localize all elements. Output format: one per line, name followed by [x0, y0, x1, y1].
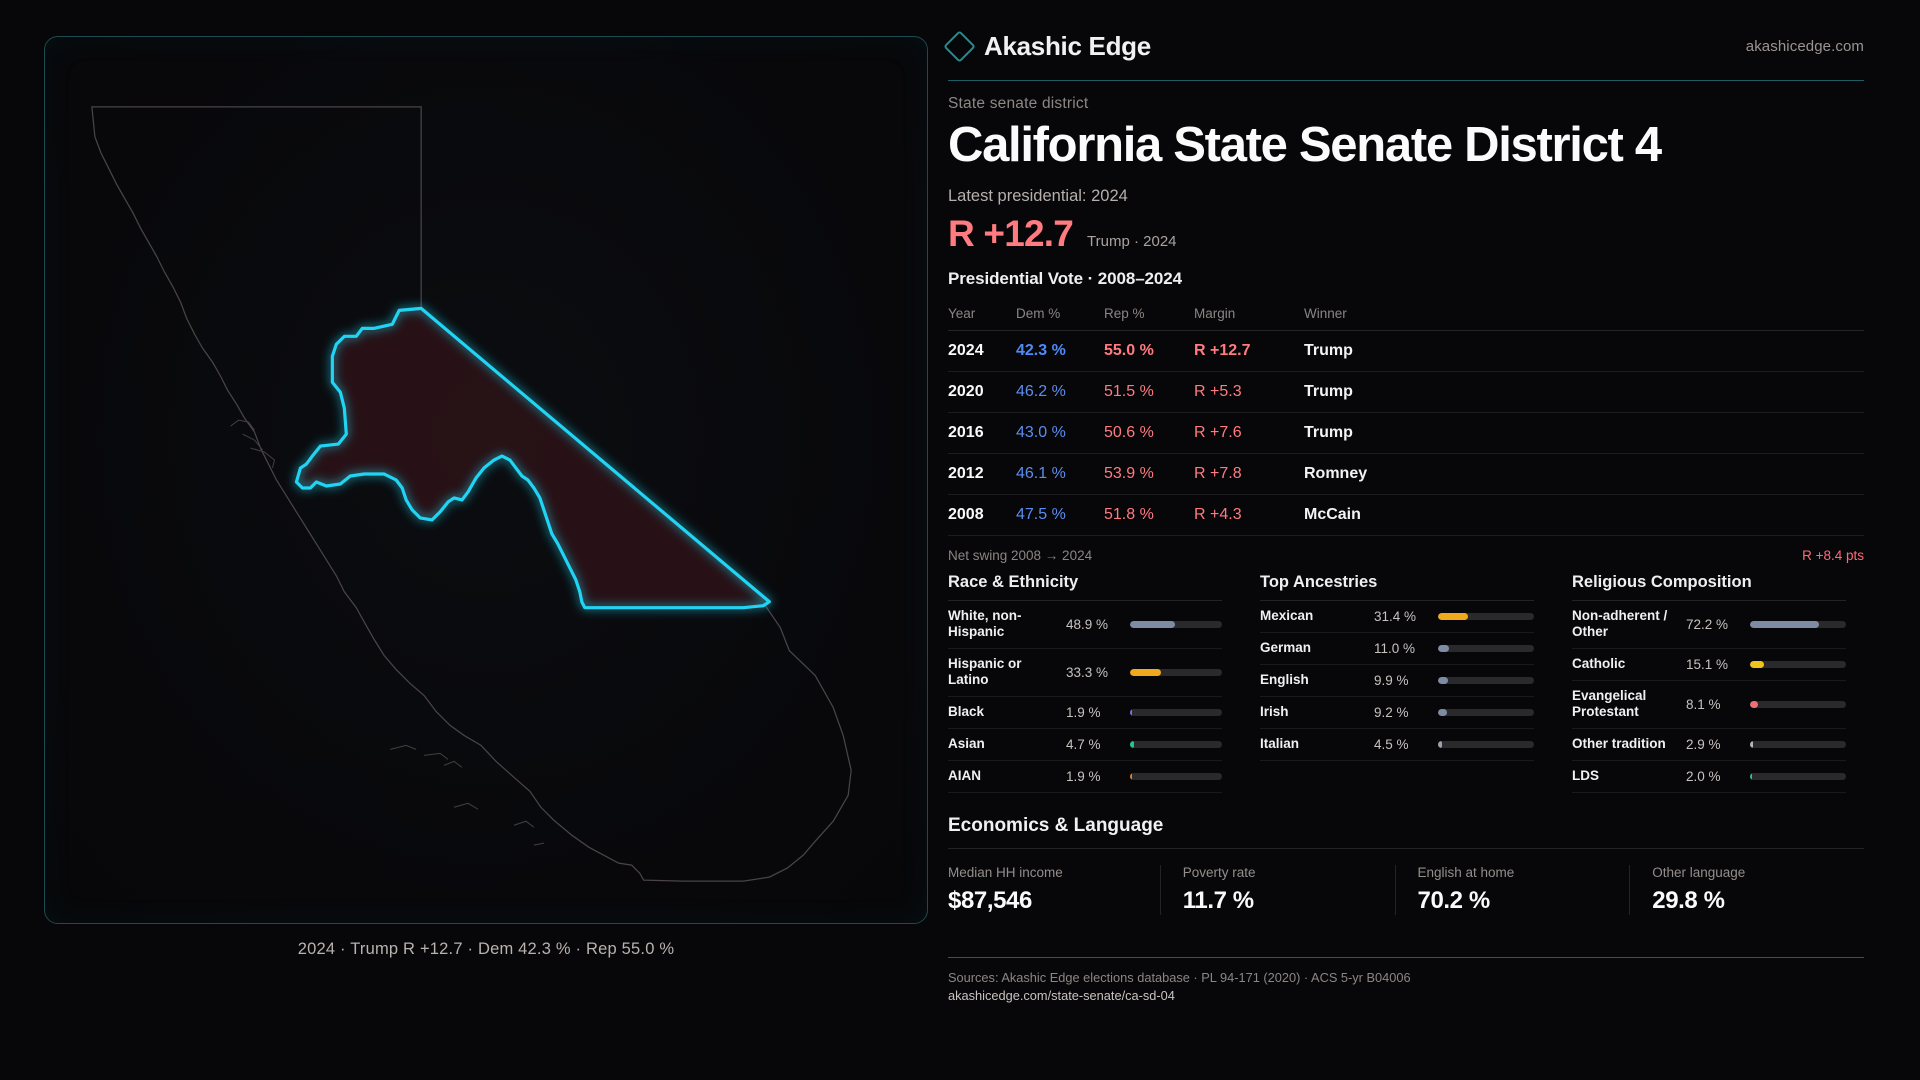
demo-row-value: 48.9 %	[1066, 617, 1122, 632]
cell-year: 2016	[948, 412, 1016, 453]
demo-row: White, non-Hispanic48.9 %	[948, 601, 1222, 649]
demo-bar-track	[1438, 741, 1534, 748]
brand-name: Akashic Edge	[984, 31, 1151, 62]
demo-row-value: 15.1 %	[1686, 657, 1742, 672]
footer-divider	[948, 957, 1864, 958]
demo-row: Catholic15.1 %	[1572, 649, 1846, 681]
demo-row-label: Other tradition	[1572, 736, 1678, 752]
vote-table-title: Presidential Vote · 2008–2024	[948, 269, 1864, 289]
map-svg	[45, 37, 927, 923]
demo-column-title: Race & Ethnicity	[948, 573, 1222, 600]
demo-bar-track	[1750, 701, 1846, 708]
demo-bar-track	[1750, 773, 1846, 780]
demo-bar-fill	[1130, 741, 1134, 748]
state-outline-path	[92, 107, 851, 881]
cell-winner: Trump	[1304, 371, 1864, 412]
demo-bar-fill	[1130, 621, 1175, 628]
demo-row-value: 4.7 %	[1066, 737, 1122, 752]
demo-column: Race & EthnicityWhite, non-Hispanic48.9 …	[948, 573, 1240, 793]
demo-row-value: 8.1 %	[1686, 697, 1742, 712]
economics-divider	[948, 848, 1864, 849]
demo-row: LDS2.0 %	[1572, 761, 1846, 793]
cell-margin: R +7.8	[1194, 453, 1304, 494]
cell-margin: R +12.7	[1194, 330, 1304, 371]
demo-column: Top AncestriesMexican31.4 %German11.0 %E…	[1240, 573, 1552, 793]
demo-row: German11.0 %	[1260, 633, 1534, 665]
state-detail-strokes	[231, 420, 544, 845]
district-map[interactable]	[44, 36, 928, 924]
economics-cell: Other language29.8 %	[1629, 865, 1864, 915]
demo-row-label: English	[1260, 672, 1366, 688]
cell-dem: 46.2 %	[1016, 371, 1104, 412]
demo-row-value: 31.4 %	[1374, 609, 1430, 624]
economics-cell-label: Poverty rate	[1183, 865, 1373, 880]
demo-row-value: 1.9 %	[1066, 769, 1122, 784]
header-divider	[948, 80, 1864, 81]
demo-row-label: Asian	[948, 736, 1058, 752]
demo-bar-fill	[1750, 621, 1819, 628]
demo-bar-track	[1130, 741, 1222, 748]
cell-margin: R +4.3	[1194, 494, 1304, 535]
demo-row-value: 33.3 %	[1066, 665, 1122, 680]
hero-margin-value: R +12.7	[948, 213, 1073, 255]
demo-row: Hispanic or Latino33.3 %	[948, 649, 1222, 697]
brand-bar: Akashic Edge akashicedge.com	[948, 26, 1864, 66]
cell-dem: 43.0 %	[1016, 412, 1104, 453]
demo-row-value: 11.0 %	[1374, 641, 1430, 656]
demo-row-value: 4.5 %	[1374, 737, 1430, 752]
demo-bar-track	[1130, 621, 1222, 628]
demo-bar-track	[1130, 773, 1222, 780]
cell-rep: 53.9 %	[1104, 453, 1194, 494]
cell-rep: 50.6 %	[1104, 412, 1194, 453]
demo-row-value: 1.9 %	[1066, 705, 1122, 720]
cell-winner: Romney	[1304, 453, 1864, 494]
demo-bar-fill	[1750, 741, 1753, 748]
demo-column: Religious CompositionNon-adherent / Othe…	[1552, 573, 1864, 793]
demo-row-value: 2.9 %	[1686, 737, 1742, 752]
demo-row-value: 2.0 %	[1686, 769, 1742, 784]
economics-grid: Median HH income$87,546Poverty rate11.7 …	[948, 865, 1864, 915]
demo-row-label: Evangelical Protestant	[1572, 688, 1678, 721]
demographics-grid: Race & EthnicityWhite, non-Hispanic48.9 …	[948, 573, 1864, 793]
demo-row: Black1.9 %	[948, 697, 1222, 729]
demo-bar-track	[1750, 621, 1846, 628]
demo-row: Evangelical Protestant8.1 %	[1572, 681, 1846, 729]
table-header-row: Year Dem % Rep % Margin Winner	[948, 300, 1864, 331]
economics-cell-value: 70.2 %	[1418, 887, 1608, 915]
cell-rep: 55.0 %	[1104, 330, 1194, 371]
demo-row-label: German	[1260, 640, 1366, 656]
demo-bar-track	[1438, 613, 1534, 620]
demo-bar-fill	[1438, 645, 1449, 652]
demo-bar-track	[1438, 709, 1534, 716]
demo-row: Irish9.2 %	[1260, 697, 1534, 729]
demo-bar-fill	[1750, 701, 1758, 708]
demo-row: Other tradition2.9 %	[1572, 729, 1846, 761]
demo-row-label: Catholic	[1572, 656, 1678, 672]
demo-bar-fill	[1130, 669, 1161, 676]
net-swing-value: R +8.4 pts	[1802, 548, 1864, 563]
info-column: Akashic Edge akashicedge.com State senat…	[948, 0, 1920, 1080]
demo-bar-fill	[1438, 709, 1447, 716]
demo-bar-fill	[1130, 709, 1132, 716]
demo-row: Italian4.5 %	[1260, 729, 1534, 761]
col-header-dem: Dem %	[1016, 300, 1104, 331]
demo-row-label: White, non-Hispanic	[948, 608, 1058, 641]
cell-year: 2024	[948, 330, 1016, 371]
economics-cell: Median HH income$87,546	[948, 865, 1160, 915]
demo-row-label: Hispanic or Latino	[948, 656, 1058, 689]
cell-year: 2020	[948, 371, 1016, 412]
demo-bar-fill	[1750, 661, 1764, 668]
demo-row: Mexican31.4 %	[1260, 601, 1534, 633]
sources-text: Sources: Akashic Edge elections database…	[948, 969, 1864, 988]
demo-bar-fill	[1438, 741, 1442, 748]
footer-url[interactable]: akashicedge.com/state-senate/ca-sd-04	[948, 987, 1864, 1006]
economics-cell-label: Median HH income	[948, 865, 1138, 880]
table-row[interactable]: 202046.2 %51.5 %R +5.3Trump	[948, 371, 1864, 412]
col-header-year: Year	[948, 300, 1016, 331]
demo-row-label: Italian	[1260, 736, 1366, 752]
economics-cell-value: 29.8 %	[1652, 887, 1842, 915]
table-row[interactable]: 202442.3 %55.0 %R +12.7Trump	[948, 330, 1864, 371]
cell-winner: McCain	[1304, 494, 1864, 535]
demo-row-label: Irish	[1260, 704, 1366, 720]
cell-dem: 47.5 %	[1016, 494, 1104, 535]
cell-year: 2012	[948, 453, 1016, 494]
economics-cell: English at home70.2 %	[1395, 865, 1630, 915]
col-header-winner: Winner	[1304, 300, 1864, 331]
presidential-vote-table: Year Dem % Rep % Margin Winner 202442.3 …	[948, 300, 1864, 536]
demo-row: Non-adherent / Other72.2 %	[1572, 601, 1846, 649]
demo-bar-fill	[1750, 773, 1752, 780]
table-row[interactable]: 201246.1 %53.9 %R +7.8Romney	[948, 453, 1864, 494]
brand-url[interactable]: akashicedge.com	[1746, 38, 1864, 55]
demo-bar-track	[1130, 709, 1222, 716]
table-row[interactable]: 201643.0 %50.6 %R +7.6Trump	[948, 412, 1864, 453]
map-column: 2024 · Trump R +12.7 · Dem 42.3 % · Rep …	[0, 0, 948, 1080]
cell-rep: 51.5 %	[1104, 371, 1194, 412]
page-title: California State Senate District 4	[948, 120, 1864, 172]
demo-bar-fill	[1438, 677, 1448, 684]
demo-row-label: Non-adherent / Other	[1572, 608, 1678, 641]
page-eyebrow: State senate district	[948, 95, 1864, 113]
cell-margin: R +7.6	[1194, 412, 1304, 453]
economics-title: Economics & Language	[948, 815, 1864, 837]
demo-row-value: 9.2 %	[1374, 705, 1430, 720]
demo-row: Asian4.7 %	[948, 729, 1222, 761]
cell-winner: Trump	[1304, 412, 1864, 453]
demo-row-label: Mexican	[1260, 608, 1366, 624]
cell-rep: 51.8 %	[1104, 494, 1194, 535]
map-caption: 2024 · Trump R +12.7 · Dem 42.3 % · Rep …	[44, 940, 928, 959]
economics-cell-value: $87,546	[948, 887, 1138, 915]
demo-row-value: 9.9 %	[1374, 673, 1430, 688]
cell-winner: Trump	[1304, 330, 1864, 371]
demo-bar-track	[1438, 645, 1534, 652]
demo-row: AIAN1.9 %	[948, 761, 1222, 793]
cell-dem: 46.1 %	[1016, 453, 1104, 494]
economics-cell-value: 11.7 %	[1183, 887, 1373, 915]
cell-year: 2008	[948, 494, 1016, 535]
diamond-icon	[943, 30, 976, 63]
demo-row: English9.9 %	[1260, 665, 1534, 697]
hero-margin-sub: Trump · 2024	[1087, 233, 1176, 250]
demo-bar-track	[1130, 669, 1222, 676]
economics-cell: Poverty rate11.7 %	[1160, 865, 1395, 915]
demo-bar-fill	[1438, 613, 1468, 620]
col-header-rep: Rep %	[1104, 300, 1194, 331]
cell-margin: R +5.3	[1194, 371, 1304, 412]
cell-dem: 42.3 %	[1016, 330, 1104, 371]
demo-bar-track	[1750, 741, 1846, 748]
hero-margin-row: R +12.7 Trump · 2024	[948, 213, 1864, 255]
net-swing-label: Net swing 2008 → 2024	[948, 548, 1092, 563]
demo-row-label: LDS	[1572, 768, 1678, 784]
demo-column-title: Religious Composition	[1572, 573, 1846, 600]
latest-presidential-label: Latest presidential: 2024	[948, 187, 1864, 206]
demo-bar-track	[1750, 661, 1846, 668]
demo-row-value: 72.2 %	[1686, 617, 1742, 632]
demo-bar-fill	[1130, 773, 1132, 780]
demo-row-label: AIAN	[948, 768, 1058, 784]
demo-column-title: Top Ancestries	[1260, 573, 1534, 600]
net-swing-row: Net swing 2008 → 2024 R +8.4 pts	[948, 536, 1864, 567]
economics-cell-label: English at home	[1418, 865, 1608, 880]
table-row[interactable]: 200847.5 %51.8 %R +4.3McCain	[948, 494, 1864, 535]
district-fill	[296, 308, 769, 607]
demo-row-label: Black	[948, 704, 1058, 720]
demo-bar-track	[1438, 677, 1534, 684]
col-header-margin: Margin	[1194, 300, 1304, 331]
sources-block: Sources: Akashic Edge elections database…	[948, 969, 1864, 1006]
economics-cell-label: Other language	[1652, 865, 1842, 880]
